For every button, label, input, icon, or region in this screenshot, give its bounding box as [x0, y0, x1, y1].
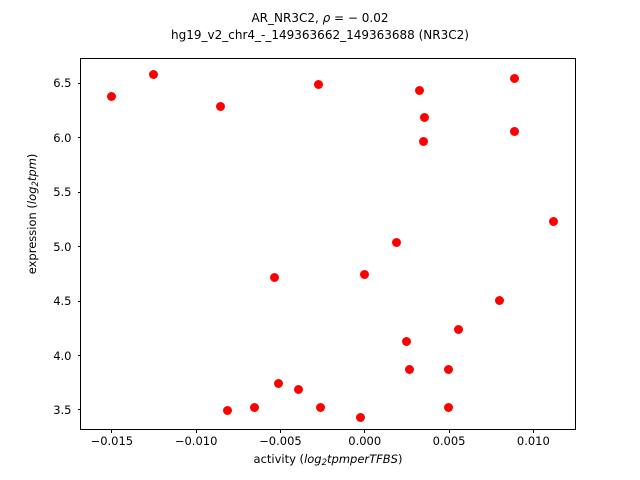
y-axis-label-units: tpm: [25, 158, 39, 181]
y-axis-tick-label: 5.0: [53, 240, 71, 254]
x-axis-tick-label: 0.010: [517, 434, 550, 448]
scatter-point: [216, 102, 225, 111]
scatter-point: [510, 74, 519, 83]
y-axis-tick-mark: 4.0: [78, 355, 82, 356]
y-axis-tick-mark: 4.5: [78, 301, 82, 302]
chart-title-line-1: AR_NR3C2, ρ = − 0.02: [0, 10, 640, 27]
x-axis-tick-mark: 0.005: [449, 429, 450, 433]
chart-subtitle: hg19_v2_chr4_-_149363662_149363688 (NR3C…: [0, 27, 640, 44]
y-axis-tick-label: 3.5: [53, 403, 71, 417]
scatter-point: [419, 137, 428, 146]
y-axis-tick-label: 5.5: [53, 185, 71, 199]
x-axis-tick-mark: −0.005: [280, 429, 281, 433]
y-axis-tick-label: 6.5: [53, 76, 71, 90]
chart-title-rho-value: = − 0.02: [330, 11, 388, 25]
y-axis-label-subscript: 2: [31, 181, 41, 186]
scatter-point: [495, 296, 504, 305]
x-axis-tick-mark: −0.010: [196, 429, 197, 433]
scatter-point: [223, 406, 232, 415]
x-axis-tick-mark: −0.015: [111, 429, 112, 433]
y-axis-tick-label: 6.0: [53, 131, 71, 145]
x-axis-label-prefix: activity (: [254, 452, 305, 466]
scatter-point: [392, 238, 401, 247]
scatter-point: [510, 127, 519, 136]
y-axis-tick-mark: 5.5: [78, 192, 82, 193]
scatter-point: [549, 217, 558, 226]
x-axis-label: activity (log2tpmperTFBS): [80, 452, 576, 468]
y-axis-label-prefix: expression (: [25, 204, 39, 274]
x-axis-tick-label: −0.005: [259, 434, 302, 448]
x-axis-label-log: log: [304, 452, 322, 466]
y-axis-tick-mark: 6.5: [78, 83, 82, 84]
y-axis-tick-label: 4.0: [53, 349, 71, 363]
y-axis-tick-mark: 5.0: [78, 246, 82, 247]
x-axis-tick-mark: 0.010: [533, 429, 534, 433]
y-axis-label-suffix: ): [25, 154, 39, 159]
y-axis-tick-mark: 6.0: [78, 137, 82, 138]
scatter-point: [444, 403, 453, 412]
y-axis-label-log: log: [25, 187, 39, 205]
y-axis-tick-label: 4.5: [53, 294, 71, 308]
scatter-point: [454, 325, 463, 334]
scatter-point: [356, 413, 365, 422]
scatter-point: [149, 70, 158, 79]
scatter-point: [294, 385, 303, 394]
scatter-point: [107, 92, 116, 101]
x-axis-tick-label: 0.000: [348, 434, 381, 448]
y-axis-tick-mark: 3.5: [78, 409, 82, 410]
scatter-point: [316, 403, 325, 412]
scatter-point: [250, 403, 259, 412]
scatter-point: [420, 113, 429, 122]
plot-axes-frame: 3.54.04.55.05.56.06.5−0.015−0.010−0.0050…: [80, 58, 576, 430]
scatter-point: [402, 337, 411, 346]
chart-title: AR_NR3C2, ρ = − 0.02 hg19_v2_chr4_-_1493…: [0, 10, 640, 44]
y-axis-label: expression (log2tpm): [25, 49, 41, 379]
x-axis-label-suffix: ): [398, 452, 403, 466]
scatter-point: [444, 365, 453, 374]
scatter-point: [405, 365, 414, 374]
x-axis-label-units: tpmperTFBS: [327, 452, 398, 466]
x-axis-tick-label: −0.015: [91, 434, 134, 448]
scatter-point: [360, 270, 369, 279]
scatter-point: [270, 273, 279, 282]
scatter-point: [314, 80, 323, 89]
scatter-plot-figure: AR_NR3C2, ρ = − 0.02 hg19_v2_chr4_-_1493…: [0, 0, 640, 480]
x-axis-tick-mark: 0.000: [364, 429, 365, 433]
scatter-point: [415, 86, 424, 95]
chart-title-prefix: AR_NR3C2,: [251, 11, 322, 25]
scatter-point: [274, 379, 283, 388]
plot-data-area: [81, 59, 575, 429]
x-axis-tick-label: 0.005: [433, 434, 466, 448]
x-axis-tick-label: −0.010: [175, 434, 218, 448]
